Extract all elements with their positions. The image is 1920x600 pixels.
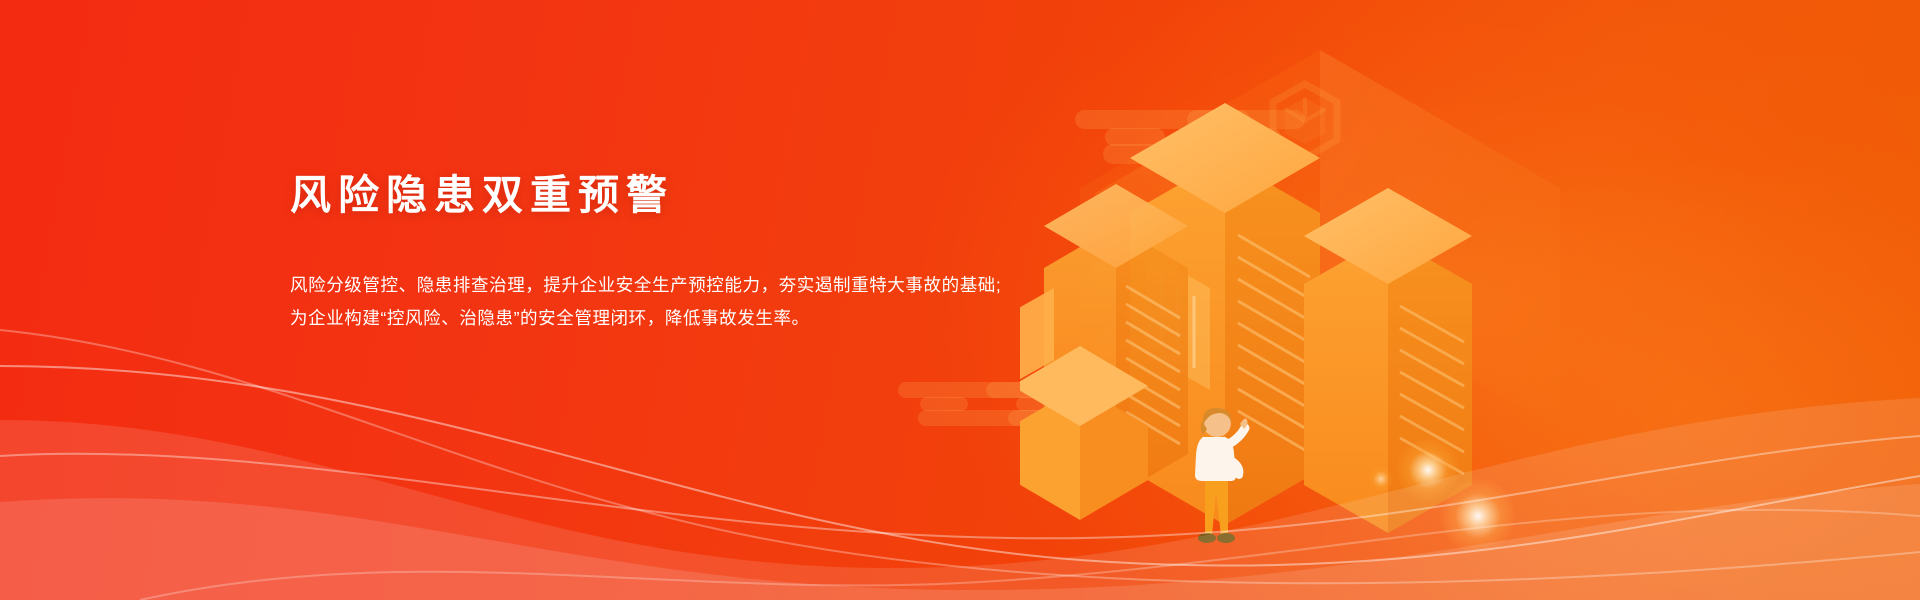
- banner-subtitle-line-2: 为企业构建“控风险、治隐患”的安全管理闭环，降低事故发生率。: [290, 302, 990, 335]
- banner-copy: 风险隐患双重预警 风险分级管控、隐患排查治理，提升企业安全生产预控能力，夯实遏制…: [290, 170, 990, 335]
- banner-subtitle: 风险分级管控、隐患排查治理，提升企业安全生产预控能力，夯实遏制重特大事故的基础;…: [290, 269, 990, 335]
- banner-subtitle-line-1: 风险分级管控、隐患排查治理，提升企业安全生产预控能力，夯实遏制重特大事故的基础;: [290, 269, 990, 302]
- banner-title: 风险隐患双重预警: [290, 170, 990, 221]
- promo-banner: 风险隐患双重预警 风险分级管控、隐患排查治理，提升企业安全生产预控能力，夯实遏制…: [0, 0, 1920, 600]
